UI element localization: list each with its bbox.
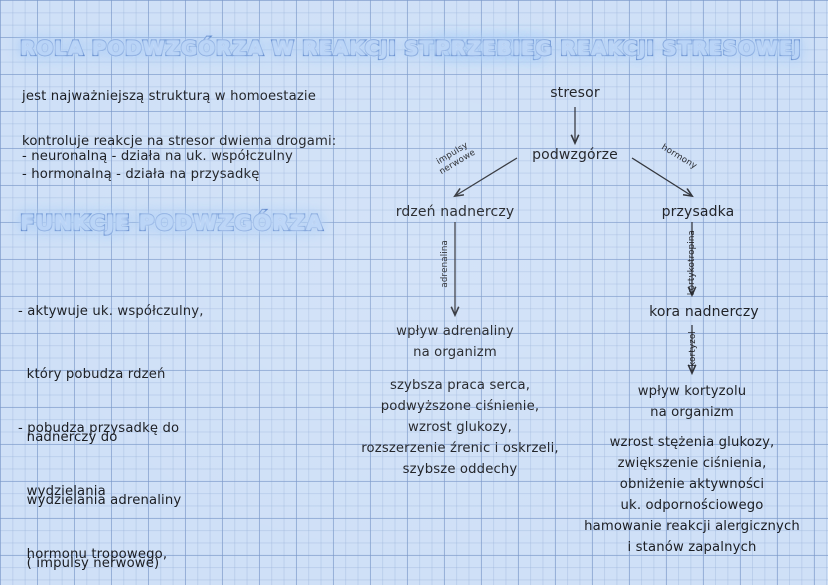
function-item-1-line-1: wydzielania	[18, 481, 193, 502]
outcome-adrenaline-effects: szybsza praca serca, podwyższone ciśnien…	[361, 375, 559, 480]
function-item-1-line-0: - pobudza przysadkę do	[18, 418, 193, 439]
outcome-adrenaline-title: wpływ adrenaliny na organizm	[396, 321, 514, 363]
outcome-cortisol-effects: wzrost stężenia glukozy, zwiększenie ciś…	[584, 432, 800, 558]
edge-label-kortyzol: kortyzol	[688, 331, 698, 367]
notebook-page: ROLA PODWZGÓRZA W REAKCJI STRESOWEJ PRZE…	[0, 0, 828, 585]
node-rdzen-nadnerczy: rdzeń nadnerczy	[396, 202, 515, 223]
edge-label-kortykotropina: kortykotropina	[687, 230, 697, 295]
section-title-functions: FUNKCJE PODWZGÓRZA	[20, 211, 323, 235]
node-podwzgorze: podwzgórze	[532, 145, 618, 166]
function-item-0-line-0: - aktywuje uk. współczulny,	[18, 301, 204, 322]
function-item-1: - pobudza przysadkę do wydzielania hormo…	[18, 376, 193, 585]
left-control-item-1: - hormonalną - działa na przysadkę	[22, 164, 260, 185]
page-title-right: PRZEBIEG REAKCJI STRESOWEJ	[435, 37, 801, 60]
node-stresor: stresor	[550, 83, 600, 104]
node-przysadka: przysadka	[662, 202, 735, 223]
edge-label-impulsy-nerwowe: impulsy nerwowe	[433, 139, 478, 177]
function-item-1-line-2: hormonu tropowego,	[18, 544, 193, 565]
left-intro-text: jest najważniejszą strukturą w homoestaz…	[22, 86, 316, 107]
edge-label-adrenalina: adrenalina	[440, 240, 450, 288]
node-kora-nadnerczy: kora nadnerczy	[649, 302, 759, 323]
outcome-cortisol-title: wpływ kortyzolu na organizm	[638, 381, 747, 423]
edge-label-hormony: hormony	[659, 143, 698, 172]
